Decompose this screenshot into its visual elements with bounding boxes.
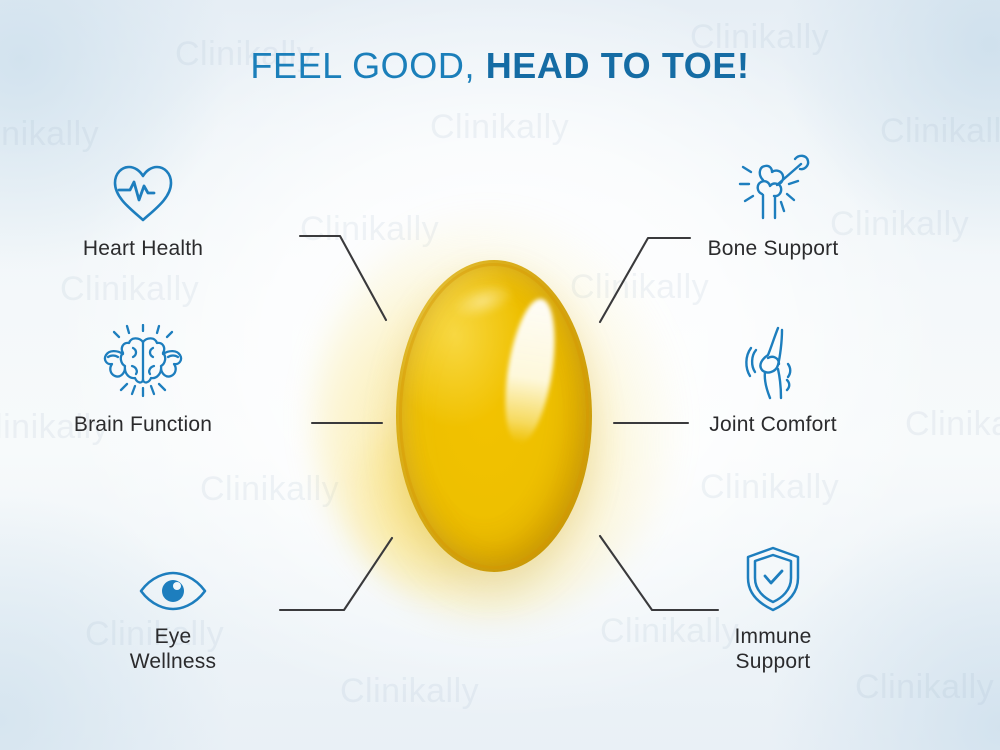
watermark-text: Clinikally	[430, 108, 569, 147]
feature-heart-health[interactable]: Heart Health	[28, 152, 258, 261]
watermark-text: Clinikally	[60, 270, 199, 309]
feature-label: Immune Support	[658, 624, 888, 674]
shield-check-icon	[658, 540, 888, 614]
infographic-poster: Clinikally Clinikally Clinikally Clinika…	[0, 0, 1000, 750]
feature-eye-wellness[interactable]: Eye Wellness	[58, 540, 288, 674]
feature-label-line: Support	[658, 649, 888, 674]
bone-joint-icon	[658, 152, 888, 226]
feature-label-line: Immune	[658, 624, 888, 649]
knee-joint-icon	[658, 328, 888, 402]
watermark-text: Clinikally	[200, 470, 339, 509]
feature-label: Heart Health	[28, 236, 258, 261]
watermark-text: Clinikally	[340, 672, 479, 711]
capsule-body	[396, 260, 592, 572]
feature-label: Brain Function	[28, 412, 258, 437]
feature-bone-support[interactable]: Bone Support	[658, 152, 888, 261]
heart-pulse-icon	[28, 152, 258, 226]
feature-label: Joint Comfort	[658, 412, 888, 437]
feature-label: Bone Support	[658, 236, 888, 261]
feature-immune-support[interactable]: Immune Support	[658, 540, 888, 674]
brain-muscle-icon	[28, 328, 258, 402]
page-title: FEEL GOOD, HEAD TO TOE!	[0, 45, 1000, 87]
eye-icon	[58, 540, 288, 614]
title-light-part: FEEL GOOD,	[250, 45, 475, 86]
feature-brain-function[interactable]: Brain Function	[28, 328, 258, 437]
softgel-capsule	[370, 252, 620, 582]
watermark-text: Clinikally	[880, 112, 1000, 151]
watermark-text: Clinikally	[905, 405, 1000, 444]
feature-label: Eye Wellness	[58, 624, 288, 674]
title-bold-part: HEAD TO TOE!	[486, 45, 750, 86]
watermark-text: Clinikally	[700, 468, 839, 507]
watermark-text: Clinikally	[0, 115, 99, 154]
feature-label-line: Wellness	[58, 649, 288, 674]
feature-joint-comfort[interactable]: Joint Comfort	[658, 328, 888, 437]
feature-label-line: Eye	[58, 624, 288, 649]
